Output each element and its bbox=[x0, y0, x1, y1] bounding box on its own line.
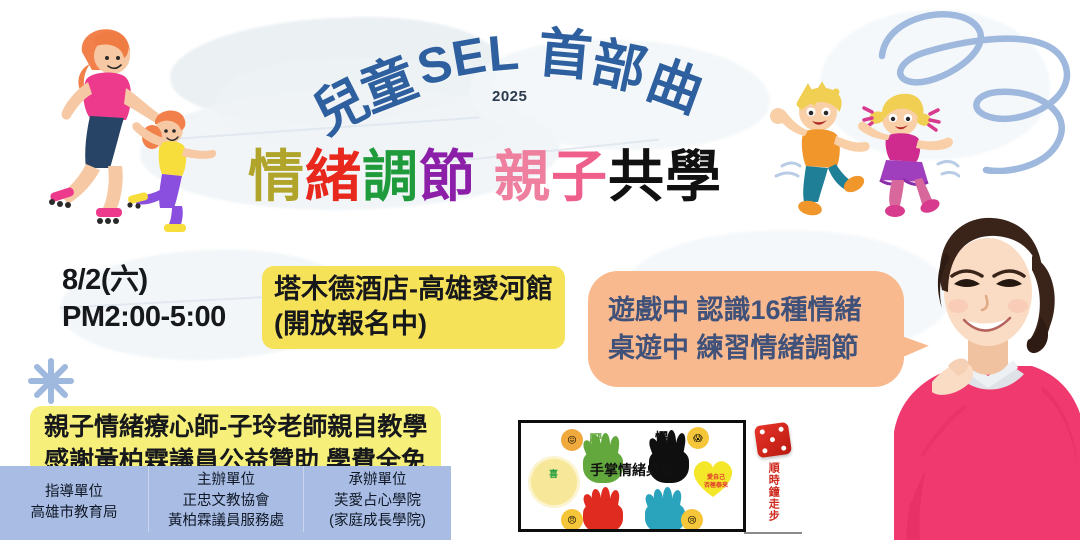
organiser-column-2: 承辦單位芙愛占心學院(家庭成長學院) bbox=[303, 466, 451, 532]
instructor-line: 親子情緒療心師-子玲老師親自教學 bbox=[44, 411, 427, 445]
organiser-bar: 指導單位高雄市教育局主辦單位正忠文教協會黃柏霖議員服務處承辦單位芙愛占心學院(家… bbox=[0, 466, 451, 540]
title-char-4: L bbox=[486, 27, 521, 79]
emoji-anger: 😠 bbox=[561, 509, 583, 531]
poster-subtitle: 情緒調節 親子共學 bbox=[248, 148, 722, 207]
title-char-6: 首 bbox=[536, 26, 595, 85]
dice-instruction: 順時鐘走步 bbox=[750, 424, 796, 536]
organiser-name: 黃柏霖議員服務處 bbox=[151, 511, 301, 532]
organiser-role: 承辦單位 bbox=[306, 470, 449, 491]
emoji-disgust: 😖 bbox=[561, 429, 583, 451]
hand-label-0: 厭 bbox=[589, 429, 602, 448]
sun-icon bbox=[531, 459, 577, 505]
organiser-name: 正忠文教協會 bbox=[151, 491, 301, 512]
subtitle-char-7: 共 bbox=[608, 148, 665, 207]
emoji-sad: 😢 bbox=[681, 509, 703, 531]
bubble-line-1: 遊戲中 認識16種情緒 bbox=[608, 291, 904, 329]
organiser-role: 主辦單位 bbox=[151, 470, 301, 491]
heart-label: 愛自己 否極泰來 bbox=[703, 475, 729, 490]
boardgame-title: 手掌情緒桌遊 bbox=[590, 460, 674, 480]
speech-bubble: 遊戲中 認識16種情緒 桌遊中 練習情緒調節 bbox=[588, 271, 904, 387]
hand-label-1: 懼 bbox=[655, 427, 668, 446]
subtitle-char-5: 親 bbox=[494, 148, 551, 207]
organiser-column-1: 主辦單位正忠文教協會黃柏霖議員服務處 bbox=[148, 466, 303, 532]
organiser-name: (家庭成長學院) bbox=[306, 511, 449, 532]
boardgame-sun-label: 喜 bbox=[549, 467, 558, 480]
hand-label-2: 怒 bbox=[589, 507, 602, 526]
event-datetime: 8/2(六) PM2:00-5:00 bbox=[62, 262, 226, 335]
organiser-column-0: 指導單位高雄市教育局 bbox=[0, 466, 148, 523]
subtitle-char-4 bbox=[476, 148, 494, 207]
subtitle-char-3: 節 bbox=[419, 148, 476, 207]
poster-title: 兒 童 S E L 首 部 曲 bbox=[300, 18, 730, 138]
instructor-photo bbox=[892, 196, 1080, 540]
event-date: 8/2(六) bbox=[62, 262, 226, 299]
subtitle-char-2: 調 bbox=[362, 148, 419, 207]
subtitle-char-1: 緒 bbox=[305, 148, 362, 207]
event-time: PM2:00-5:00 bbox=[62, 299, 226, 336]
emoji-fear: 😱 bbox=[687, 427, 709, 449]
organiser-role: 指導單位 bbox=[2, 482, 146, 503]
poster-year: 2025 bbox=[492, 88, 527, 105]
title-char-3: E bbox=[448, 29, 490, 84]
organiser-name: 芙愛占心學院 bbox=[306, 491, 449, 512]
dice-text: 順時鐘走步 bbox=[765, 462, 782, 522]
hand-label-3: 哀 bbox=[651, 507, 664, 526]
boardgame-photo: 喜 厭 懼 怒 bbox=[518, 420, 746, 532]
organiser-name: 高雄市教育局 bbox=[2, 503, 146, 524]
registration-status: (開放報名中) bbox=[274, 307, 553, 342]
poster-canvas: 兒 童 S E L 首 部 曲 2025 情緒調節 親子共學 8/2(六) PM… bbox=[0, 0, 1080, 540]
title-char-8: 曲 bbox=[640, 52, 709, 121]
subtitle-char-6: 子 bbox=[551, 148, 608, 207]
bubble-line-2: 桌遊中 練習情緒調節 bbox=[608, 329, 904, 367]
event-venue-badge: 塔木德酒店-高雄愛河館 (開放報名中) bbox=[262, 266, 565, 349]
star-asterisk-icon bbox=[28, 358, 74, 404]
title-char-7: 部 bbox=[587, 35, 651, 99]
subtitle-char-8: 學 bbox=[665, 148, 722, 207]
subtitle-char-0: 情 bbox=[248, 148, 305, 207]
venue-name: 塔木德酒店-高雄愛河館 bbox=[274, 272, 553, 307]
divider bbox=[744, 532, 802, 534]
mother-daughter-skating-illustration bbox=[24, 12, 224, 232]
dice-icon bbox=[754, 422, 792, 458]
